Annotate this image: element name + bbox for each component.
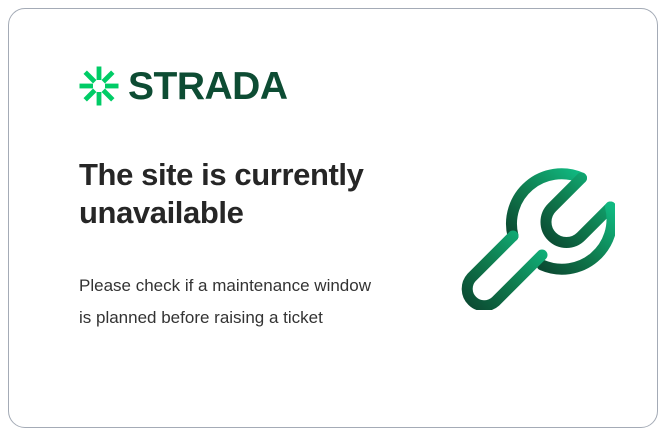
brand-wordmark: STRADA: [128, 67, 288, 106]
wrench-icon: [455, 150, 615, 310]
brand-lockup: STRADA: [79, 62, 439, 110]
page-title: The site is currently unavailable: [79, 156, 409, 232]
page-description: Please check if a maintenance window is …: [79, 270, 384, 334]
strada-asterisk-logo-icon: [79, 66, 119, 106]
content-block: STRADA The site is currently unavailable…: [79, 62, 439, 110]
maintenance-page: STRADA The site is currently unavailable…: [0, 0, 666, 436]
